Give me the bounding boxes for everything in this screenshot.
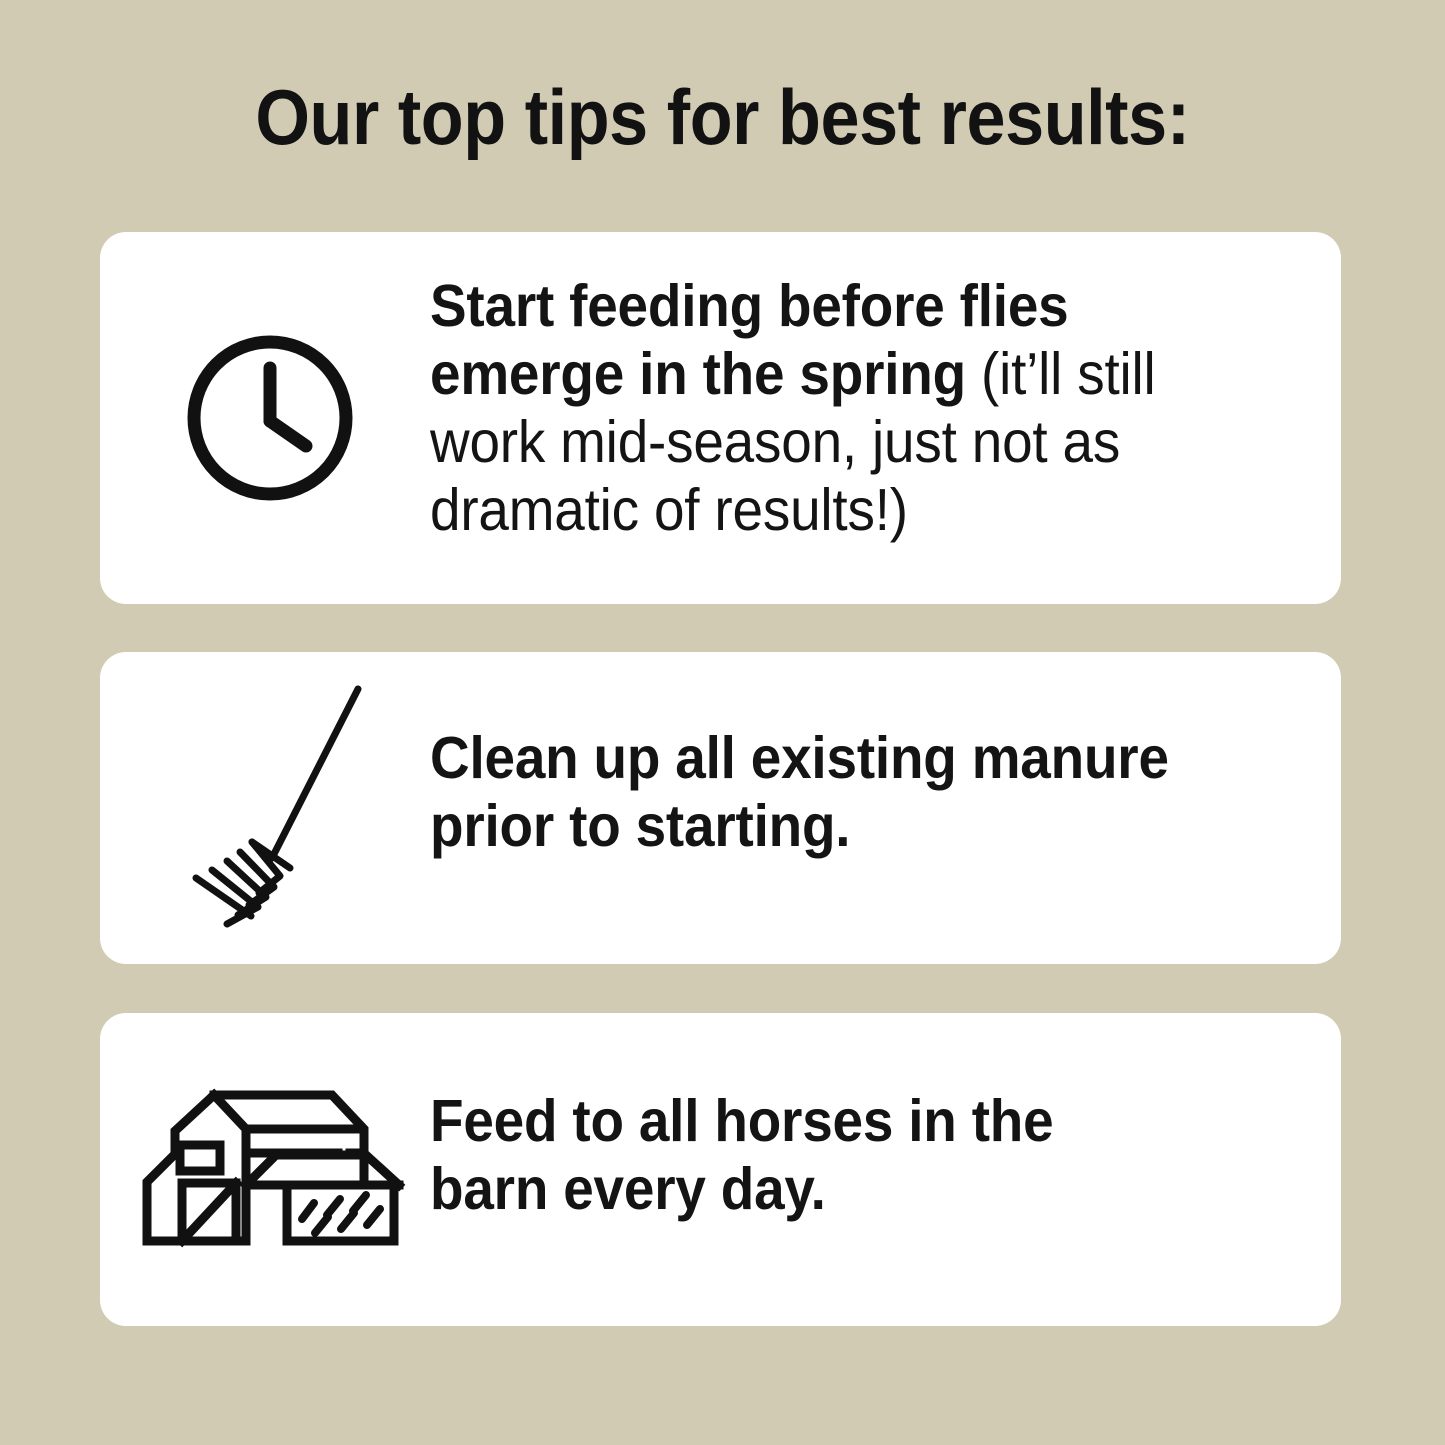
tip-bold-3: Feed to all horses in the barn every day…	[430, 1088, 1053, 1222]
tip-card-3: Feed to all horses in the barn every day…	[100, 1013, 1341, 1326]
tip-text-2: Clean up all existing manure prior to st…	[430, 724, 1183, 860]
page-title: Our top tips for best results:	[72, 78, 1373, 156]
tip-text-3: Feed to all horses in the barn every day…	[430, 1087, 1183, 1223]
tip-card-2: Clean up all existing manure prior to st…	[100, 652, 1341, 964]
pitchfork-icon	[152, 680, 382, 925]
tip-text-1: Start feeding before flies emerge in the…	[430, 272, 1183, 544]
poster-root: Our top tips for best results: Start fee…	[0, 0, 1445, 1445]
tip-bold-2: Clean up all existing manure prior to st…	[430, 725, 1169, 859]
clock-icon	[180, 328, 360, 508]
tip-card-1: Start feeding before flies emerge in the…	[100, 232, 1341, 604]
barn-icon	[142, 1081, 407, 1246]
